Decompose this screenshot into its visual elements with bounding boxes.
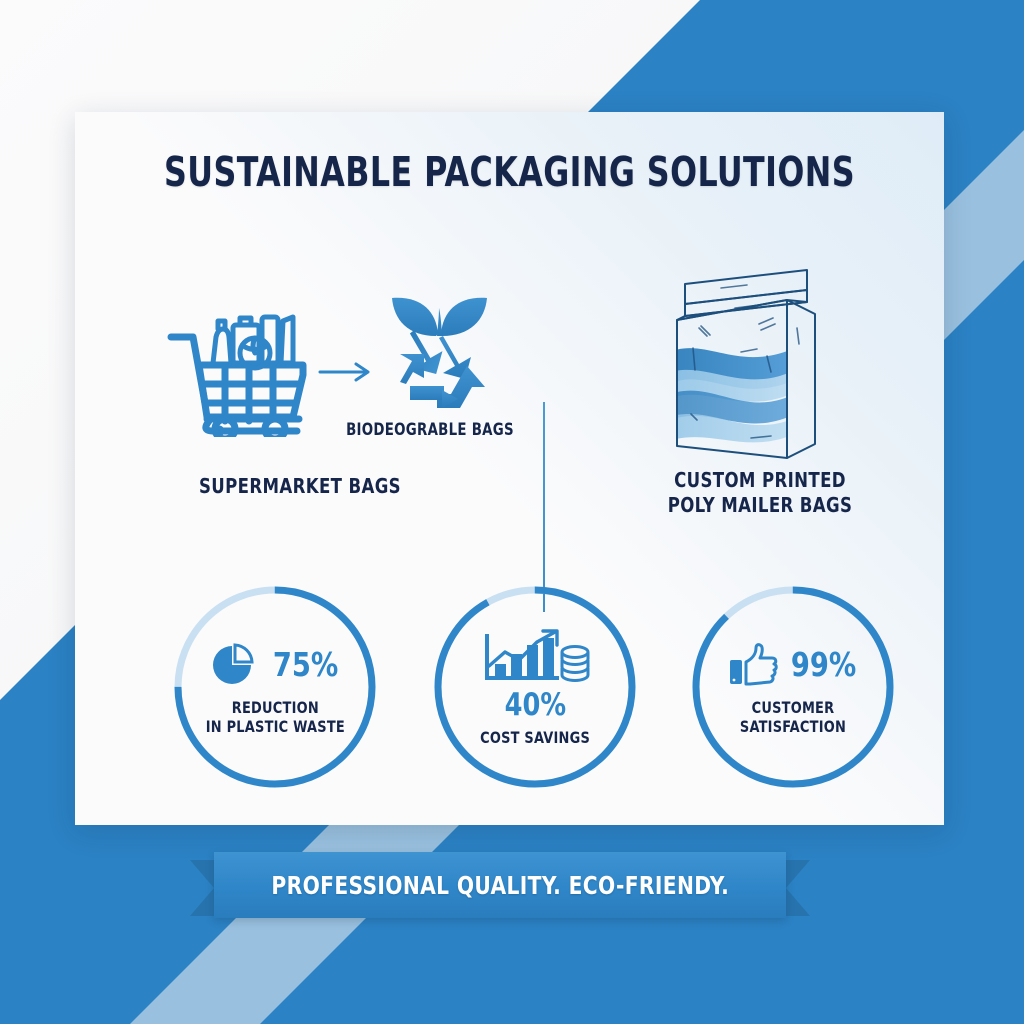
product-showcase-row: BIODEOGRABLE BAGS SUPERMARKET BAGS	[75, 242, 944, 532]
thumbs-up-icon	[726, 642, 782, 688]
section-divider	[543, 402, 545, 612]
stat-label-line1: REDUCTION	[205, 698, 344, 717]
stat-label-line1: COST SAVINGS	[480, 728, 590, 747]
poly-mailer-label-line2: POLY MAILER BAGS	[612, 493, 909, 518]
biodegradable-label: BIODEOGRABLE BAGS	[336, 420, 525, 439]
poly-mailer-label: CUSTOM PRINTED POLY MAILER BAGS	[612, 468, 909, 518]
stat-label: CUSTOMER SATISFACTION	[740, 698, 846, 736]
stat-label-line2: SATISFACTION	[740, 717, 846, 736]
shopping-cart-icon	[163, 307, 313, 437]
stat-label-line2: IN PLASTIC WASTE	[205, 717, 344, 736]
stat-label-line1: CUSTOMER	[740, 698, 846, 717]
poly-mailer-group[interactable]: CUSTOM PRINTED POLY MAILER BAGS	[595, 250, 925, 532]
poly-mailer-label-line1: CUSTOM PRINTED	[612, 468, 909, 493]
stat-card-satisfaction[interactable]: 99% CUSTOMER SATISFACTION	[688, 582, 898, 792]
poly-mailer-bag-icon	[655, 262, 845, 477]
growth-chart-coins-icon	[479, 628, 591, 686]
stat-value: 99%	[791, 648, 856, 681]
tagline-ribbon: PROFESSIONAL QUALITY. ECO-FRIENDY.	[190, 852, 810, 924]
supermarket-bags-label: SUPERMARKET BAGS	[152, 474, 449, 498]
arrow-right-icon	[318, 360, 376, 384]
stat-value: 40%	[504, 690, 565, 721]
main-card: SUSTAINABLE PACKAGING SOLUTIONS	[75, 112, 944, 825]
stat-label: REDUCTION IN PLASTIC WASTE	[205, 698, 344, 736]
page-title: SUSTAINABLE PACKAGING SOLUTIONS	[136, 148, 883, 196]
recycle-leaf-icon	[378, 286, 500, 414]
stat-card-cost-savings[interactable]: 40% COST SAVINGS	[430, 582, 640, 792]
stat-label: COST SAVINGS	[480, 728, 590, 747]
ribbon-body: PROFESSIONAL QUALITY. ECO-FRIENDY.	[214, 852, 786, 918]
stat-card-reduction[interactable]: 75% REDUCTION IN PLASTIC WASTE	[170, 582, 380, 792]
supermarket-bags-group[interactable]: BIODEOGRABLE BAGS SUPERMARKET BAGS	[135, 272, 530, 532]
tagline-text: PROFESSIONAL QUALITY. ECO-FRIENDY.	[271, 871, 729, 900]
stats-row: 75% REDUCTION IN PLASTIC WASTE	[75, 582, 944, 812]
stat-value: 75%	[273, 648, 338, 681]
infographic-canvas: SUSTAINABLE PACKAGING SOLUTIONS	[0, 0, 1024, 1024]
pie-chart-icon	[208, 642, 264, 688]
